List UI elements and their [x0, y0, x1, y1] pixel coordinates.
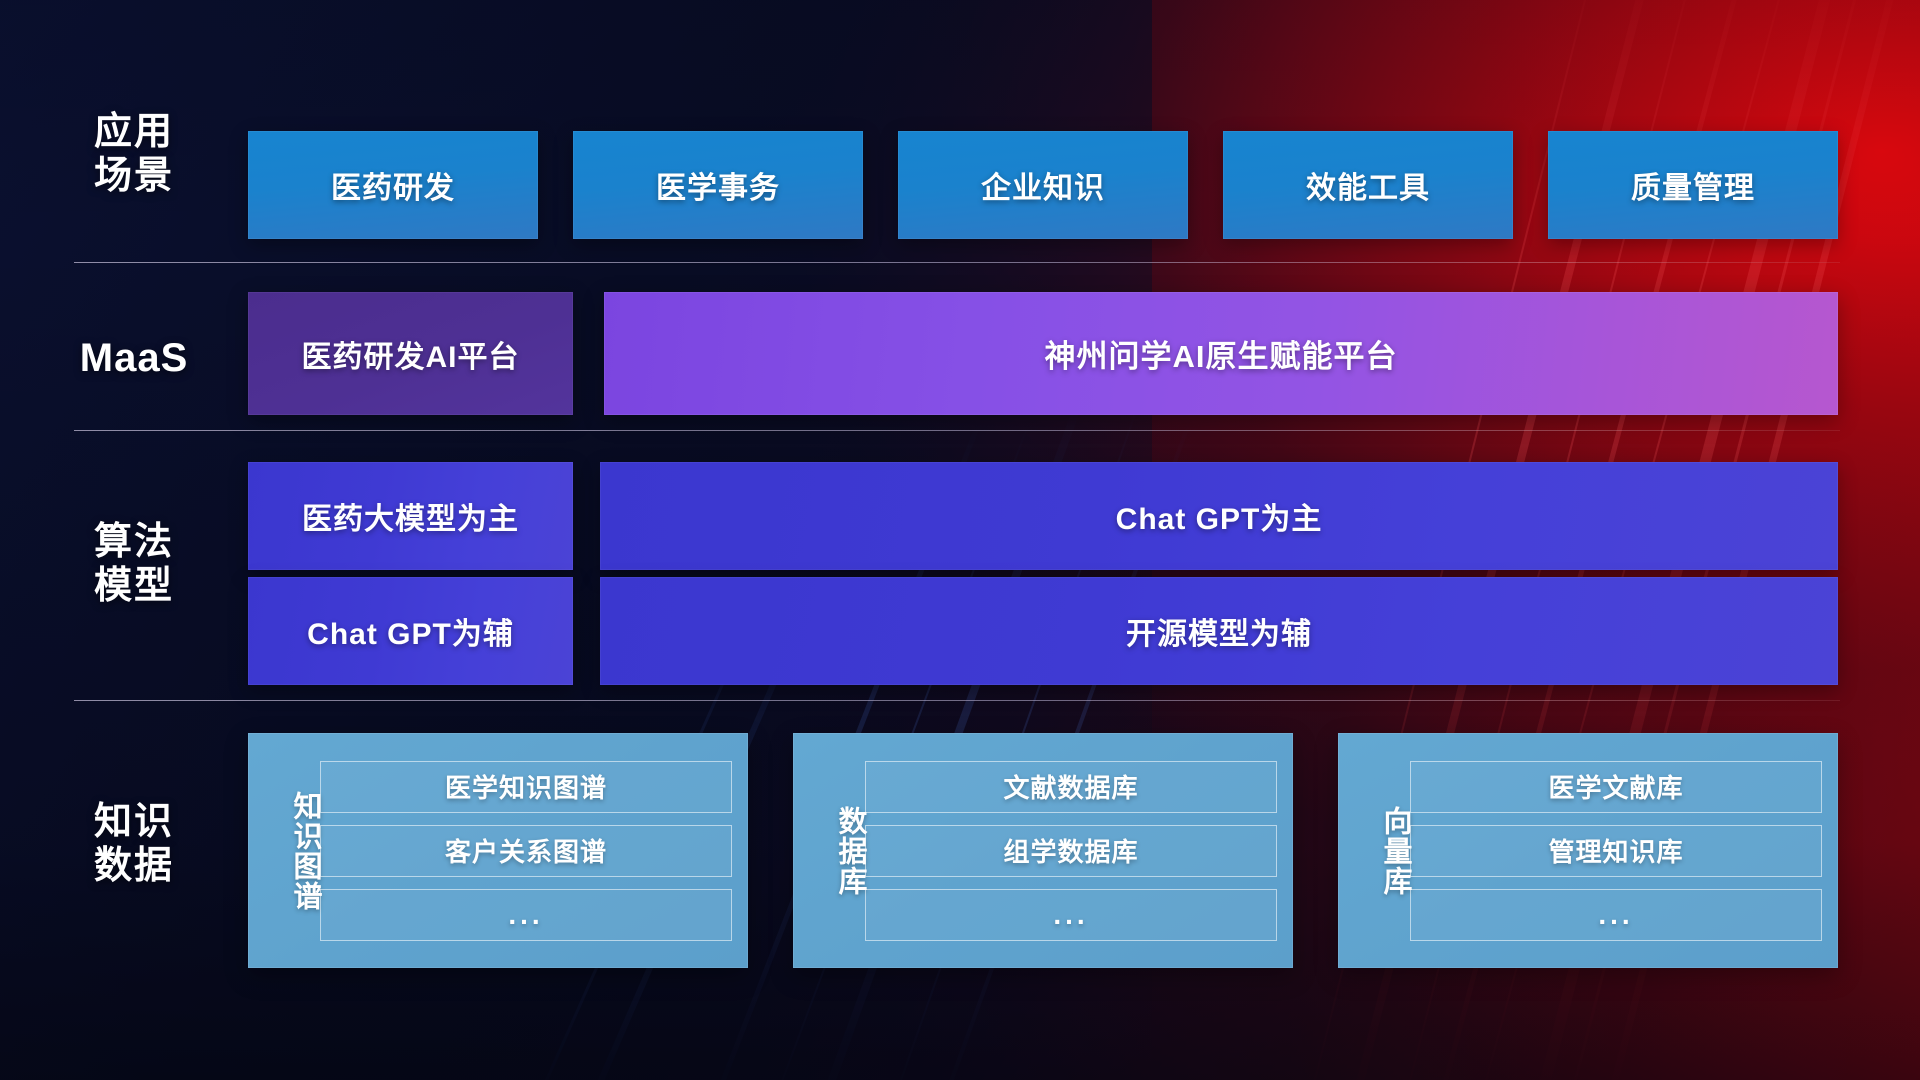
knowledge-items-vector-store: 医学文献库 管理知识库 ...: [1410, 761, 1822, 941]
knowledge-item-customer-relation-graph[interactable]: 客户关系图谱: [320, 825, 732, 877]
algo-box-pharma-llm-primary[interactable]: 医药大模型为主: [248, 462, 573, 570]
row-label-knowledge-data: 知识 数据: [74, 800, 194, 888]
row-separator-2: [74, 430, 1840, 431]
app-box-medical-affairs[interactable]: 医学事务: [573, 131, 863, 239]
row-label-maas: MaaS: [74, 335, 194, 381]
knowledge-panel-vector-store[interactable]: 向量库 医学文献库 管理知识库 ...: [1338, 733, 1838, 968]
knowledge-item-literature-database[interactable]: 文献数据库: [865, 761, 1277, 813]
row-label-algorithm-model: 算法 模型: [74, 520, 194, 608]
algo-box-chatgpt-secondary[interactable]: Chat GPT为辅: [248, 577, 573, 685]
knowledge-items-knowledge-graph: 医学知识图谱 客户关系图谱 ...: [320, 761, 732, 941]
knowledge-panel-knowledge-graph[interactable]: 知识图谱 医学知识图谱 客户关系图谱 ...: [248, 733, 748, 968]
app-box-enterprise-knowledge[interactable]: 企业知识: [898, 131, 1188, 239]
slide-canvas: 应用 场景 医药研发 医学事务 企业知识 效能工具 质量管理 MaaS 医药研发…: [0, 0, 1920, 1080]
row-separator-1: [74, 262, 1840, 263]
knowledge-panel-label-vector-store: 向量库: [1348, 806, 1410, 896]
row-label-application-scenarios: 应用 场景: [74, 110, 194, 198]
knowledge-item-medical-literature-store[interactable]: 医学文献库: [1410, 761, 1822, 813]
knowledge-item-medical-knowledge-graph[interactable]: 医学知识图谱: [320, 761, 732, 813]
knowledge-item-omics-database[interactable]: 组学数据库: [865, 825, 1277, 877]
knowledge-item-management-knowledge-store[interactable]: 管理知识库: [1410, 825, 1822, 877]
knowledge-item-more-vector-store[interactable]: ...: [1410, 889, 1822, 941]
algo-box-opensource-secondary[interactable]: 开源模型为辅: [600, 577, 1838, 685]
app-box-efficiency-tools[interactable]: 效能工具: [1223, 131, 1513, 239]
algo-box-chatgpt-primary[interactable]: Chat GPT为主: [600, 462, 1838, 570]
knowledge-item-more-knowledge-graph[interactable]: ...: [320, 889, 732, 941]
app-box-drug-rd[interactable]: 医药研发: [248, 131, 538, 239]
knowledge-panel-database[interactable]: 数据库 文献数据库 组学数据库 ...: [793, 733, 1293, 968]
knowledge-panel-label-knowledge-graph: 知识图谱: [258, 791, 320, 911]
maas-box-drug-rd-ai-platform[interactable]: 医药研发AI平台: [248, 292, 573, 415]
app-box-quality-management[interactable]: 质量管理: [1548, 131, 1838, 239]
knowledge-item-more-database[interactable]: ...: [865, 889, 1277, 941]
knowledge-items-database: 文献数据库 组学数据库 ...: [865, 761, 1277, 941]
knowledge-panel-label-database: 数据库: [803, 806, 865, 896]
row-separator-3: [74, 700, 1840, 701]
maas-box-shenzhou-wenxue-platform[interactable]: 神州问学AI原生赋能平台: [604, 292, 1838, 415]
